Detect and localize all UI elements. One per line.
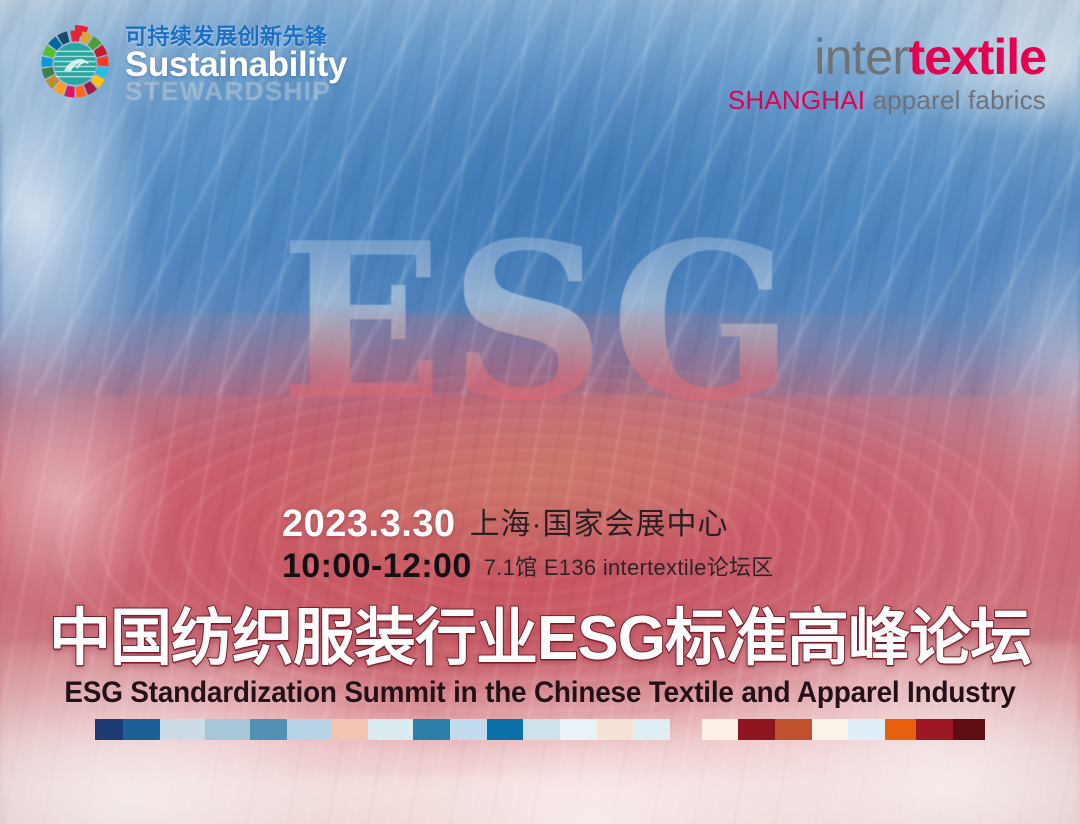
colorbar-swatch (738, 719, 775, 740)
colorbar-swatch (450, 719, 487, 740)
colorbar-swatch (633, 719, 670, 740)
poster-title-english: ESG Standardization Summit in the Chines… (38, 678, 1042, 708)
event-time-hall-row: 10:00-12:00 7.1馆 E136 intertextile论坛区 (282, 549, 774, 585)
intertextile-tagline: SHANGHAI apparel fabrics (728, 84, 1046, 117)
colorbar-swatch (702, 719, 739, 740)
colorbar-swatch (560, 719, 597, 740)
sustainability-stewardship-logo: 可持续发展创新先锋 Sustainability STEWARDSHIP (33, 22, 347, 106)
colorbar-swatch (916, 719, 953, 740)
colorbar-swatch (250, 719, 287, 740)
colorbar-swatch (885, 719, 917, 740)
colorbar-swatch (95, 719, 123, 740)
colorbar-swatch (812, 719, 849, 740)
intertextile-apparel-fabrics-text: apparel fabrics (872, 85, 1046, 115)
intertextile-textile-text: textile (908, 29, 1046, 85)
intertextile-inter-text: inter (814, 29, 908, 85)
colorbar-swatch (487, 719, 524, 740)
event-time: 10:00-12:00 (282, 549, 472, 585)
colorbar-gap (670, 719, 702, 740)
intertextile-shanghai-logo: intertextile SHANGHAI apparel fabrics (728, 32, 1046, 117)
colorbar-swatch (205, 719, 250, 740)
logo-english-subtitle: STEWARDSHIP (125, 80, 347, 104)
colorbar-swatch (332, 719, 369, 740)
colorbar-swatch (160, 719, 205, 740)
sustainability-logo-text: 可持续发展创新先锋 Sustainability STEWARDSHIP (125, 24, 347, 104)
colorbar-swatch (848, 719, 885, 740)
esg-watermark: ESG (0, 214, 1080, 429)
esg-summit-poster: ESG (0, 0, 1080, 824)
colorbar-swatch (597, 719, 634, 740)
event-venue: 上海·国家会展中心 (470, 508, 729, 545)
intertextile-wordmark: intertextile (728, 32, 1046, 82)
intertextile-shanghai-text: SHANGHAI (728, 85, 865, 115)
sdg-color-wheel-icon (33, 22, 117, 106)
event-date-venue-row: 2023.3.30 上海·国家会展中心 (282, 505, 774, 545)
colorbar-swatch (775, 719, 812, 740)
colorbar-swatch (368, 719, 413, 740)
event-date: 2023.3.30 (282, 505, 456, 545)
colorbar-swatch (413, 719, 450, 740)
poster-title-chinese: 中国纺织服装行业ESG标准高峰论坛 (0, 608, 1080, 670)
colorbar-swatch (123, 719, 160, 740)
colorbar-swatch (523, 719, 560, 740)
colorbar-swatch (287, 719, 332, 740)
event-details: 2023.3.30 上海·国家会展中心 10:00-12:00 7.1馆 E13… (282, 505, 774, 585)
palette-color-bar (95, 719, 985, 740)
colorbar-swatch (953, 719, 985, 740)
event-hall: 7.1馆 E136 intertextile论坛区 (484, 550, 774, 585)
